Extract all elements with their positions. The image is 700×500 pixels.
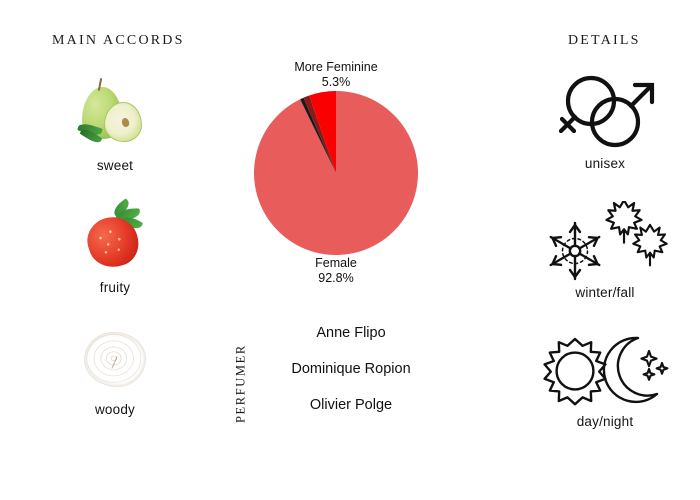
perfumer-name[interactable]: Olivier Polge — [310, 397, 392, 413]
pie-slice-female[interactable] — [254, 91, 418, 255]
main-accords-header: MAIN ACCORDS — [52, 33, 185, 49]
sun — [545, 339, 606, 404]
gender-pie-chart: More Feminine 5.3% Female 92.8% — [253, 60, 419, 290]
sun-moon-svg — [537, 333, 673, 409]
pie-label-more-feminine: More Feminine 5.3% — [294, 60, 377, 90]
sun-rays — [545, 339, 606, 404]
main-accords-list: sweet fruity woody — [40, 75, 190, 417]
wood-slice-image — [76, 319, 154, 397]
pie-label-value: 92.8% — [315, 271, 357, 286]
perfumer-name-list: Anne Flipo Dominique Ropion Olivier Polg… — [256, 325, 446, 413]
strawberry-image — [76, 197, 154, 275]
detail-label: day/night — [577, 414, 634, 429]
pear-image — [76, 75, 154, 153]
pie-label-name: More Feminine — [294, 60, 377, 75]
perfumer-name[interactable]: Anne Flipo — [316, 325, 385, 341]
perfumer-section: PERFUMER Anne Flipo Dominique Ropion Oli… — [232, 325, 447, 450]
snowflake-arms — [548, 223, 601, 279]
sun-disc — [557, 353, 594, 390]
maple-leaf-2 — [633, 225, 666, 265]
sun-moon-icon — [537, 330, 673, 412]
accord-label: woody — [95, 402, 135, 417]
pie-svg — [253, 90, 419, 256]
snowflake-leaves-icon — [539, 201, 671, 283]
detail-item-unisex[interactable]: unisex — [525, 72, 685, 171]
snowflake-hub — [570, 246, 580, 256]
perfumer-name[interactable]: Dominique Ropion — [291, 361, 410, 377]
pie-label-female: Female 92.8% — [315, 256, 357, 286]
snowflake — [548, 223, 601, 279]
moon-stars — [641, 351, 667, 380]
perfumer-axis-label: PERFUMER — [232, 325, 250, 443]
accord-item-woody[interactable]: woody — [50, 319, 180, 417]
details-list: unisex — [520, 72, 690, 429]
accord-label: sweet — [97, 158, 133, 173]
accord-item-sweet[interactable]: sweet — [50, 75, 180, 173]
pie-slices — [254, 91, 418, 255]
detail-item-day-night[interactable]: day/night — [525, 330, 685, 429]
accord-item-fruity[interactable]: fruity — [50, 197, 180, 295]
pie-label-value: 5.3% — [294, 75, 377, 90]
detail-item-winter-fall[interactable]: winter/fall — [525, 201, 685, 300]
details-header: DETAILS — [568, 33, 641, 49]
pie-label-name: Female — [315, 256, 357, 271]
detail-label: winter/fall — [575, 285, 634, 300]
wood-disc-shape — [84, 332, 146, 387]
moon — [604, 338, 667, 402]
snowflake-leaves-svg — [539, 201, 671, 283]
gender-symbols-svg — [549, 71, 661, 155]
gender-symbols-icon — [549, 72, 661, 154]
accord-label: fruity — [100, 280, 130, 295]
male-arrow-shaft — [631, 87, 650, 106]
detail-label: unisex — [585, 156, 625, 171]
